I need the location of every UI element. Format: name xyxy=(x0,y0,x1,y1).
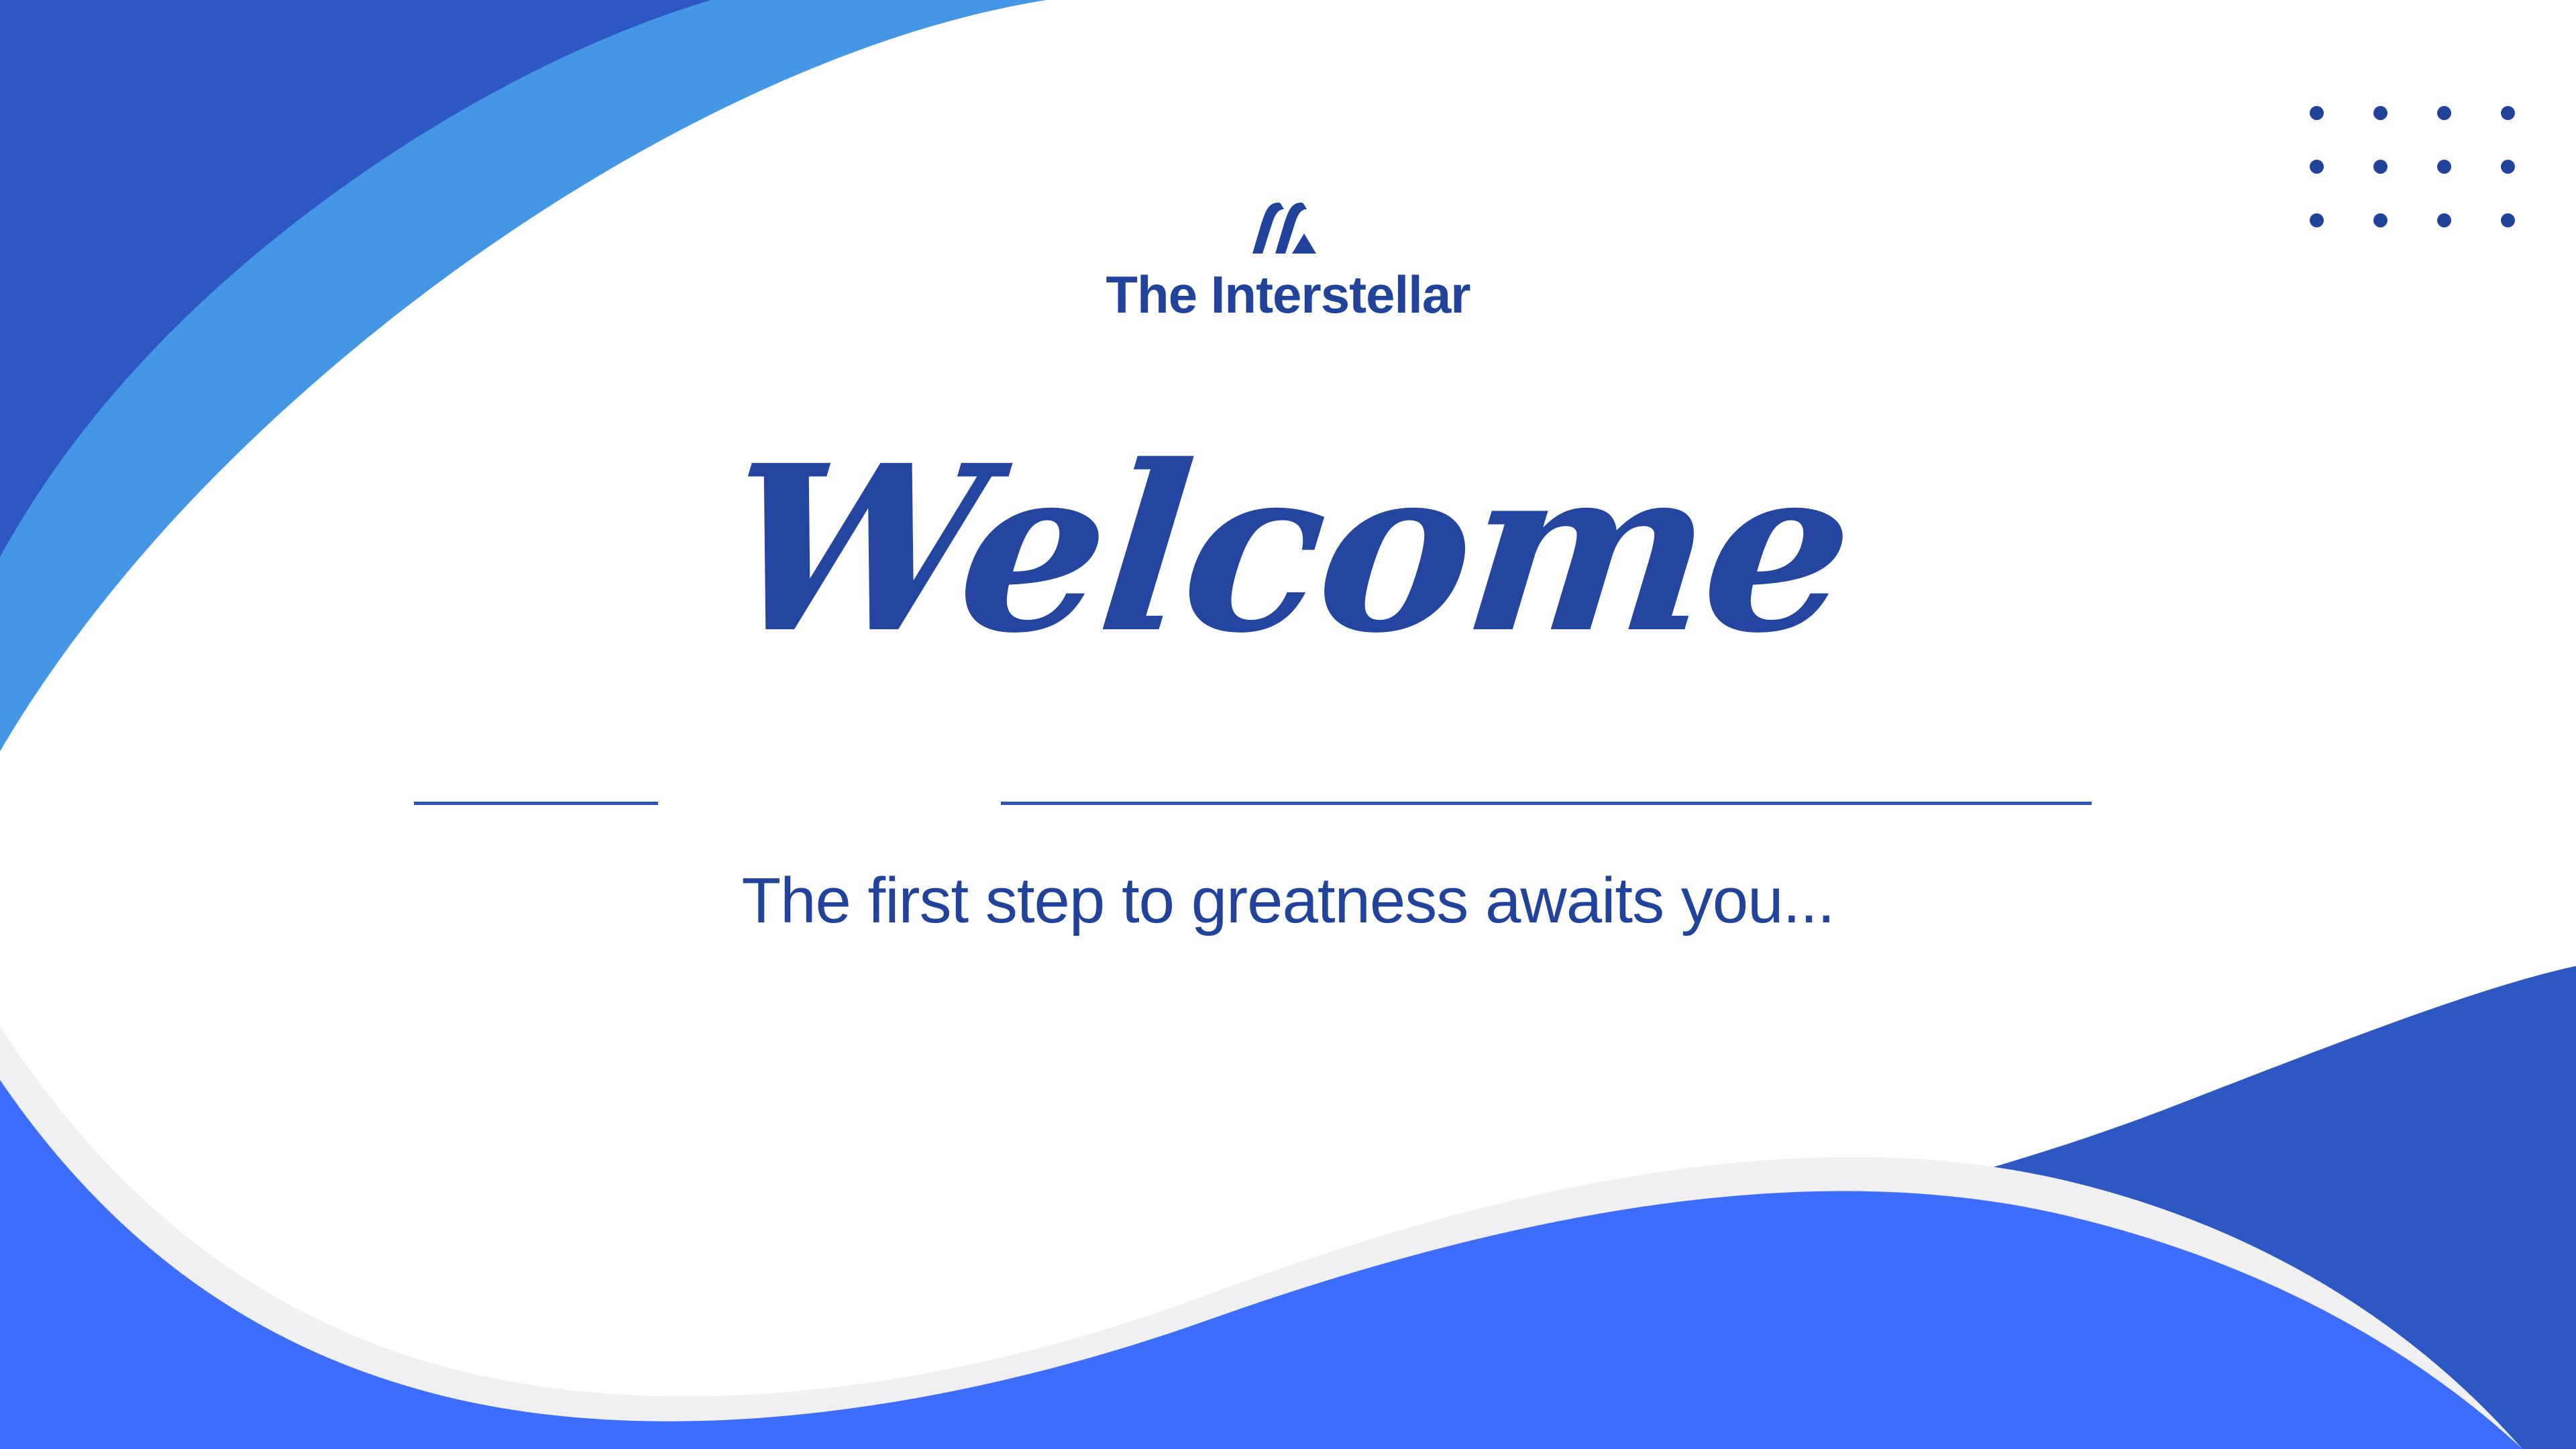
divider-right xyxy=(1001,802,2092,805)
logo-triangle xyxy=(1292,233,1316,254)
brand-block: The Interstellar xyxy=(1106,201,1470,321)
welcome-slide: The Interstellar Welcome The first step … xyxy=(0,0,2576,1449)
slide-content: The Interstellar Welcome xyxy=(0,0,2576,1449)
brand-name: The Interstellar xyxy=(1106,268,1470,321)
tagline: The first step to greatness awaits you..… xyxy=(0,864,2576,938)
interstellar-logo-icon xyxy=(1252,201,1324,259)
welcome-headline: Welcome xyxy=(717,441,1858,658)
divider-left xyxy=(414,802,658,805)
divider-row xyxy=(0,802,2576,808)
